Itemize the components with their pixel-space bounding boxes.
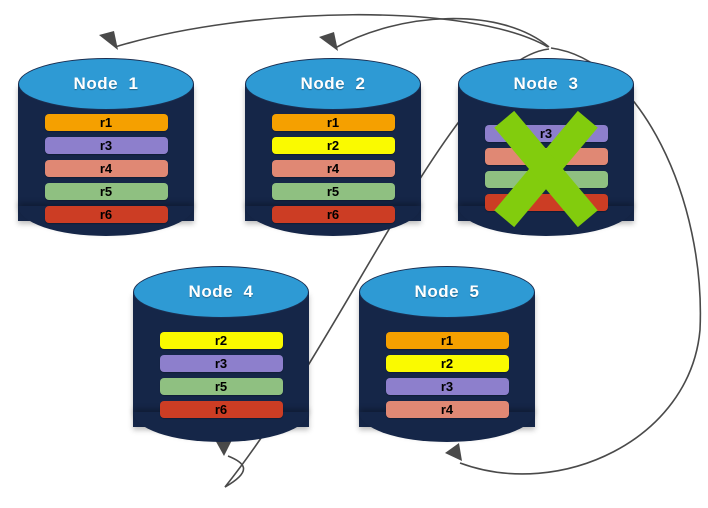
diagram-canvas: Node 1r1r3r4r5r6Node 2r1r2r4r5r6Node 3r3…: [0, 0, 708, 508]
replica-bar: [485, 148, 608, 165]
replica-bar-r1: r1: [386, 332, 509, 349]
replica-bar-r4: r4: [386, 401, 509, 418]
replica-bar-r3: r3: [45, 137, 168, 154]
cylinder-top: Node 2: [245, 58, 421, 110]
replica-list: r1r3r4r5r6: [18, 114, 194, 223]
replica-bar-r3: r3: [485, 125, 608, 142]
replica-bar-r1: r1: [272, 114, 395, 131]
arrow-node3-to-node5-head: [445, 443, 462, 461]
replica-list: r1r2r3r4: [359, 332, 535, 418]
replica-bar-r3: r3: [160, 355, 283, 372]
replica-bar-r6: r6: [160, 401, 283, 418]
replica-bar-r5: r5: [45, 183, 168, 200]
replica-bar-r3: r3: [386, 378, 509, 395]
replica-list: r1r2r4r5r6: [245, 114, 421, 223]
database-node-2[interactable]: Node 2r1r2r4r5r6: [245, 58, 421, 236]
cylinder-top: Node 3: [458, 58, 634, 110]
node-title: Node 2: [301, 74, 366, 94]
replica-bar-r2: r2: [386, 355, 509, 372]
database-node-1[interactable]: Node 1r1r3r4r5r6: [18, 58, 194, 236]
arrow-node3-to-node1-head: [99, 31, 118, 50]
node-title: Node 3: [514, 74, 579, 94]
node-title: Node 5: [415, 282, 480, 302]
arrow-node3-to-node2: [319, 19, 549, 51]
arrow-node3-to-node2-head: [319, 32, 338, 51]
replica-bar-r5: r5: [272, 183, 395, 200]
replica-bar-r6: r6: [272, 206, 395, 223]
replica-bar-r6: r6: [45, 206, 168, 223]
replica-list: r3: [458, 125, 634, 211]
database-node-5[interactable]: Node 5r1r2r3r4: [359, 266, 535, 442]
database-node-4[interactable]: Node 4r2r3r5r6: [133, 266, 309, 442]
replica-bar-r1: r1: [45, 114, 168, 131]
replica-bar-r4: r4: [272, 160, 395, 177]
node-title: Node 1: [74, 74, 139, 94]
replica-bar-r5: r5: [160, 378, 283, 395]
cylinder-top: Node 4: [133, 266, 309, 318]
replica-list: r2r3r5r6: [133, 332, 309, 418]
replica-bar: [485, 171, 608, 188]
replica-bar: [485, 194, 608, 211]
cylinder-top: Node 1: [18, 58, 194, 110]
database-node-3[interactable]: Node 3r3: [458, 58, 634, 236]
replica-bar-r4: r4: [45, 160, 168, 177]
cylinder-top: Node 5: [359, 266, 535, 318]
replica-bar-r2: r2: [272, 137, 395, 154]
node-title: Node 4: [189, 282, 254, 302]
replica-bar-r2: r2: [160, 332, 283, 349]
